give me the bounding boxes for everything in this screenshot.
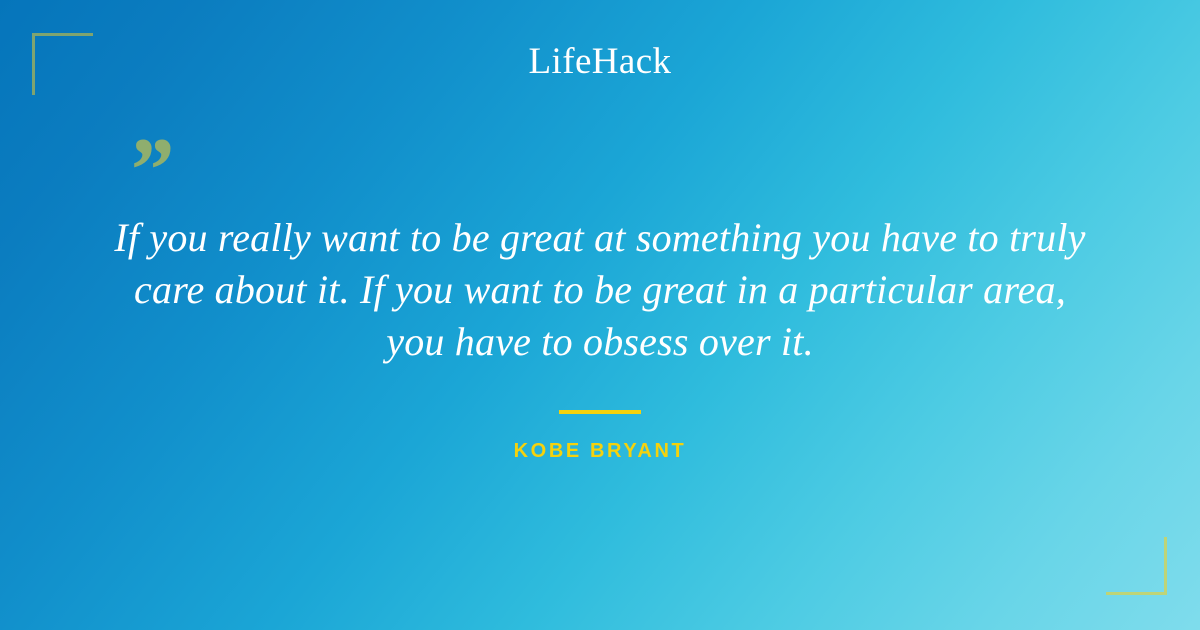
quotation-mark-icon: ” (126, 124, 172, 216)
attribution-divider (559, 410, 641, 414)
corner-bracket-bottom-right-icon (1106, 537, 1167, 595)
brand-logo-text: LifeHack (529, 40, 672, 84)
quote-line: care about it. If you want to be great i… (60, 264, 1140, 316)
brand-logo: LifeHack (0, 40, 1200, 84)
attribution: KOBE BRYANT (0, 438, 1200, 464)
quote-text: If you really want to be great at someth… (60, 212, 1140, 368)
quote-line: you have to obsess over it. (60, 316, 1140, 368)
quote-line: If you really want to be great at someth… (60, 212, 1140, 264)
attribution-author: KOBE BRYANT (514, 438, 687, 464)
quote-card: LifeHack ” If you really want to be grea… (0, 0, 1200, 630)
